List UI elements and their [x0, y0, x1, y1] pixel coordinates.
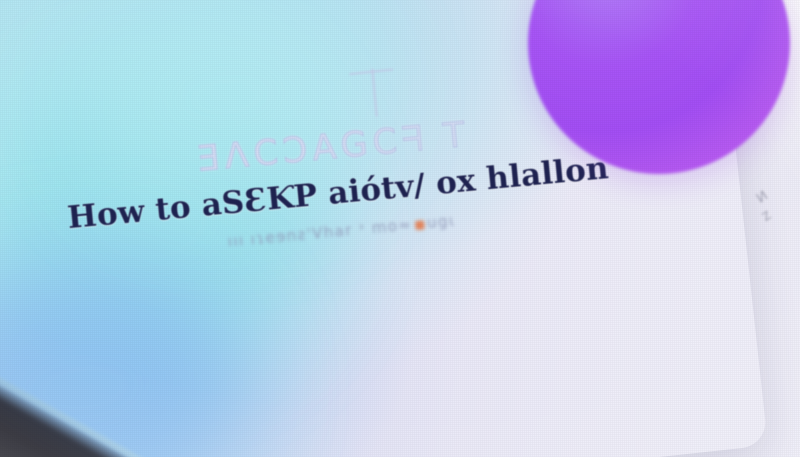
subtitle-text-before: ııı ıɿeɘnƨ'Vhar ᵌ mo≈ [227, 215, 413, 250]
subtitle-text-after: ugɩ [426, 211, 456, 232]
subtitle-accent-square [415, 220, 425, 230]
photo-scene: ᴎ ᴢ ⁄⁄ ƎΛCƆAGCᖷ T How to aSƐƘP aiótv/ ox… [0, 0, 800, 457]
screen-text-block: ƎΛCƆAGCᖷ T How to aSƐƘP aiótv/ ox hlallo… [53, 105, 621, 265]
stray-glyph-stroke [371, 69, 377, 117]
